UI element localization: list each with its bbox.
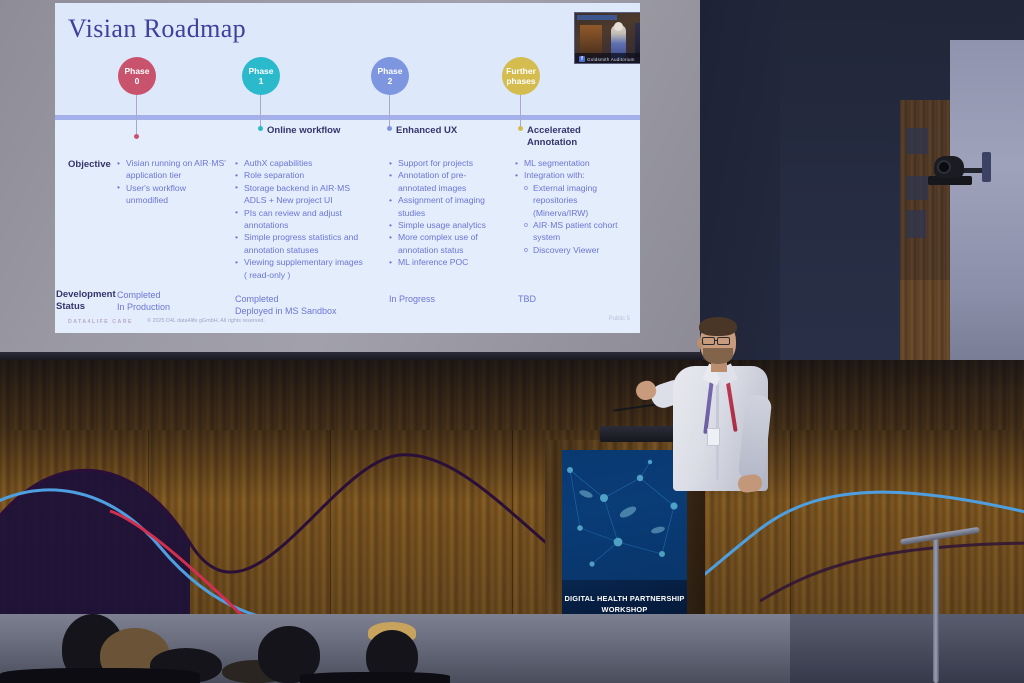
phase-bubble-1-line2: 1 <box>259 76 264 86</box>
webcam-person-head <box>614 22 623 31</box>
phase-stem-dot-1 <box>258 126 263 131</box>
stair-rail-vertical <box>933 536 939 683</box>
bullet-list-2: Support for projects Annotation of pre-a… <box>389 157 497 269</box>
decorative-wave-graphic <box>0 425 1024 625</box>
classification-label: Public <box>609 316 625 322</box>
bullet-list-3: ML segmentation Integration with: Extern… <box>515 157 633 256</box>
data4life-logo: DATA4LIFE CARE <box>68 319 133 325</box>
bullet-item: Visian running on AIR·MS' application ti… <box>117 157 229 182</box>
audience-shoulders <box>0 668 200 683</box>
phase-bubble-2: Phase 2 <box>371 57 409 95</box>
bullet-item: Simple usage analytics <box>389 219 497 231</box>
projected-slide: Visian Roadmap Phase 0 Phase 1 Phase 2 F… <box>55 3 640 333</box>
webcam-venue-label: Goldsmith Auditorium <box>587 57 635 62</box>
bullet-item: Storage backend in AIR·MS ADLS + New pro… <box>235 182 363 207</box>
facebook-icon: f <box>579 56 585 62</box>
bullet-item: Assignment of imaging studies <box>389 194 497 219</box>
wall-plate-c <box>906 210 926 238</box>
phase-bubble-0-line2: 0 <box>135 76 140 86</box>
bullet-item: Support for projects <box>389 157 497 169</box>
lectern-title-line1: DIGITAL HEALTH PARTNERSHIP <box>562 593 687 604</box>
phase-bubble-2-line2: 2 <box>388 76 393 86</box>
bullet-item: More complex use of annotation status <box>389 231 497 256</box>
column-bullets-1: AuthX capabilities Role separation Stora… <box>235 157 363 281</box>
phase-bubble-0: Phase 0 <box>118 57 156 95</box>
bullet-subitem: Discovery Viewer <box>515 244 633 256</box>
presenter-beard <box>703 348 733 364</box>
slide-title: Visian Roadmap <box>68 14 246 44</box>
bullet-subitem: External imaging repositories (Minerva/I… <box>515 182 633 219</box>
phase-bubble-3-line1: Further <box>506 66 536 76</box>
audience-shoulders <box>300 672 450 683</box>
phase-stem-dot-3 <box>518 126 523 131</box>
column-heading-2: Enhanced UX <box>396 125 506 137</box>
presenter-badge <box>707 428 720 446</box>
column-bullets-0: Visian running on AIR·MS' application ti… <box>117 157 229 207</box>
bullet-item: ML segmentation <box>515 157 633 169</box>
row-label-objective: Objective <box>68 159 111 170</box>
copyright-text: © 2025 D4L data4life gGmbH. All rights r… <box>147 318 265 324</box>
bullet-list-1: AuthX capabilities Role separation Stora… <box>235 157 363 281</box>
eyeglasses-bridge <box>714 340 718 341</box>
presentation-photo-scene: Visian Roadmap Phase 0 Phase 1 Phase 2 F… <box>0 0 1024 683</box>
auditorium-floor-right <box>790 614 1024 683</box>
phase-stem-dot-2 <box>387 126 392 131</box>
column-bullets-3: ML segmentation Integration with: Extern… <box>515 157 633 256</box>
page-number: 5 <box>627 316 630 322</box>
phase-stem-2 <box>389 95 390 128</box>
phase-bubble-2-line1: Phase <box>377 66 402 76</box>
wave-navy-right <box>760 543 1024 601</box>
status-phase-0: Completed In Production <box>117 289 227 313</box>
webcam-light-right <box>635 23 640 57</box>
status-phase-3: TBD <box>518 293 608 305</box>
wall-plate-b <box>906 176 928 200</box>
bullet-item: AuthX capabilities <box>235 157 363 169</box>
bullet-item: PIs can review and adjust annotations <box>235 207 363 232</box>
column-heading-3: Accelerated Annotation <box>527 125 617 149</box>
bullet-item: Role separation <box>235 169 363 181</box>
bullet-item: Integration with: <box>515 169 633 181</box>
slide-classification-and-page: Public 5 <box>609 316 630 322</box>
bullet-list-0: Visian running on AIR·MS' application ti… <box>117 157 229 207</box>
phase-bubble-1: Phase 1 <box>242 57 280 95</box>
bullet-item: User's workflow unmodified <box>117 182 229 207</box>
phase-bubble-3: Further phases <box>502 57 540 95</box>
status-phase-1: Completed Deployed in MS Sandbox <box>235 293 365 317</box>
eyeglasses-icon-right <box>717 337 730 345</box>
lectern-display-title: DIGITAL HEALTH PARTNERSHIP WORKSHOP <box>562 593 687 615</box>
column-bullets-2: Support for projects Annotation of pre-a… <box>389 157 497 269</box>
status-phase-2: In Progress <box>389 293 499 305</box>
network-graphic <box>562 450 687 580</box>
column-heading-1: Online workflow <box>267 125 367 137</box>
camera-wall-bracket <box>982 152 991 182</box>
bullet-item: Simple progress statistics and annotatio… <box>235 231 363 256</box>
presenter-hair <box>699 317 737 336</box>
phase-stem-3 <box>520 95 521 128</box>
phase-stem-1 <box>260 95 261 128</box>
webcam-top-bar <box>577 15 617 20</box>
phase-bubble-1-line1: Phase <box>248 66 273 76</box>
bullet-item: ML inference POC <box>389 256 497 268</box>
webcam-overlay: f Goldsmith Auditorium <box>574 12 640 64</box>
bullet-item: Viewing supplementary images ( read-only… <box>235 256 363 281</box>
row-label-development-status: Development Status <box>56 289 126 313</box>
phase-stem-0 <box>136 95 137 137</box>
phase-bubble-0-line1: Phase <box>124 66 149 76</box>
wood-wall-upper-shadow <box>0 360 1024 432</box>
lit-wall-surface <box>950 40 1024 400</box>
camera-lens-icon <box>937 160 951 174</box>
phase-stem-dot-0 <box>134 134 139 139</box>
bullet-subitem: AIR·MS patient cohort system <box>515 219 633 244</box>
phase-bubble-3-line2: phases <box>506 76 535 86</box>
wall-plate-a <box>906 128 928 154</box>
bullet-item: Annotation of pre-annotated images <box>389 169 497 194</box>
slide-divider-line <box>55 115 640 120</box>
